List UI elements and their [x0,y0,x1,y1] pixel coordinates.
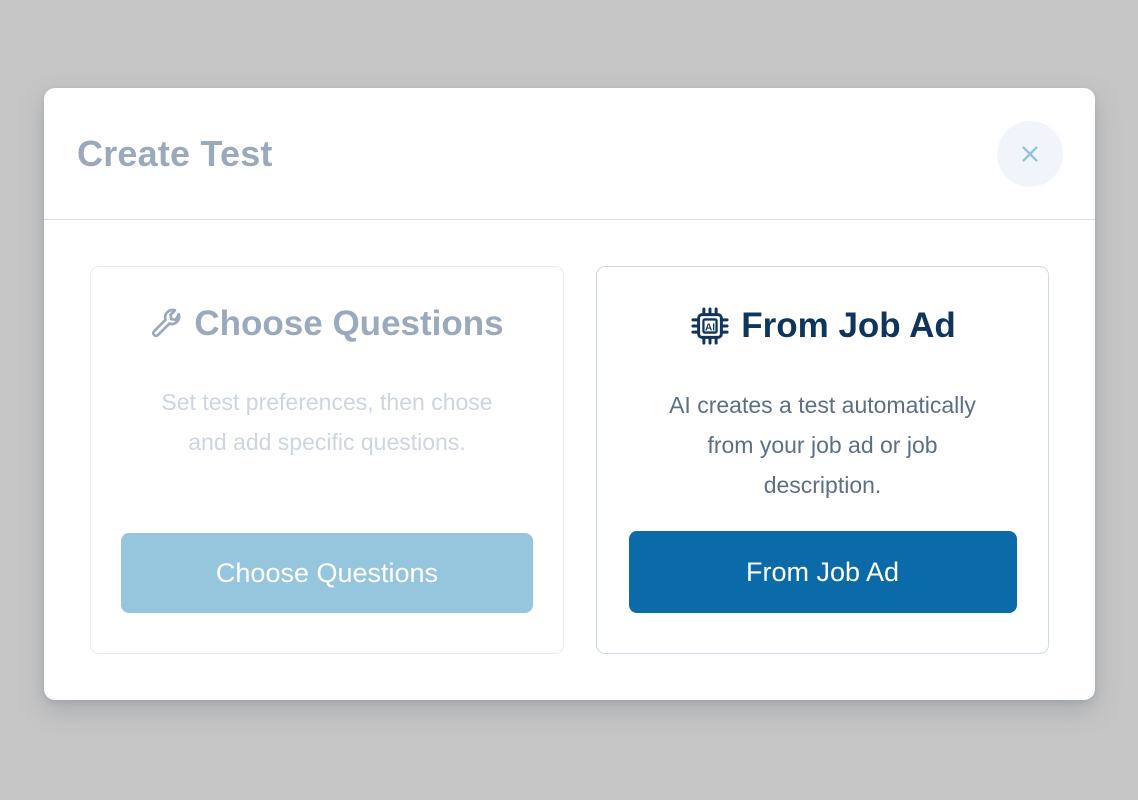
card-heading-label: Choose Questions [194,305,503,344]
from-job-ad-button[interactable]: From Job Ad [629,531,1017,613]
option-card-from-job-ad[interactable]: AI From Job Ad AI creates a test automat… [596,266,1049,654]
card-heading-label: From Job Ad [741,307,956,346]
wrench-icon [150,307,184,341]
page-title: Create Test [77,136,273,172]
close-icon [1019,143,1041,165]
create-test-modal: Create Test Choose Questions Set t [44,88,1095,700]
card-heading-from-job-ad: AI From Job Ad [689,305,956,347]
choose-questions-button[interactable]: Choose Questions [121,533,533,613]
modal-header: Create Test [44,88,1095,220]
modal-body: Choose Questions Set test preferences, t… [44,220,1095,700]
option-card-choose-questions[interactable]: Choose Questions Set test preferences, t… [90,266,564,654]
ai-chip-icon: AI [689,305,731,347]
card-description-choose-questions: Set test preferences, then chose and add… [157,382,497,462]
card-heading-choose-questions: Choose Questions [150,305,503,344]
svg-text:AI: AI [705,323,715,334]
close-button[interactable] [997,121,1063,187]
card-description-from-job-ad: AI creates a test automatically from you… [653,385,993,505]
